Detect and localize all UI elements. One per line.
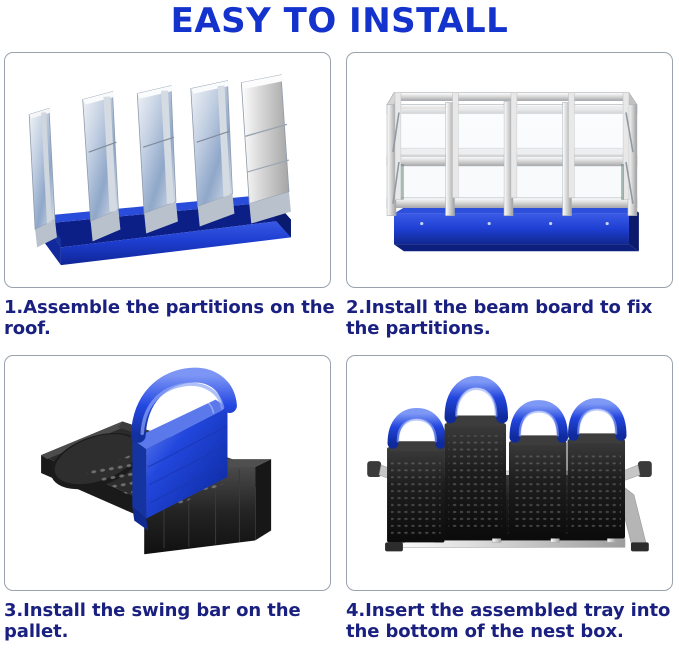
blue-base	[394, 206, 639, 252]
step-3: 3.Install the swing bar on the pallet.	[4, 355, 336, 642]
step-4-illustration	[347, 356, 672, 590]
page-title: EASY TO INSTALL	[0, 1, 679, 41]
step-2-illustration	[347, 53, 672, 287]
step-2: 2.Install the beam board to fix the part…	[346, 52, 678, 339]
tray-1	[387, 414, 445, 543]
swing-bar-pallet-artwork	[5, 356, 330, 590]
step-1-image-frame	[4, 52, 331, 288]
step-2-image-frame	[346, 52, 673, 288]
beam-board-cage-artwork	[347, 53, 672, 287]
tray-3	[509, 406, 567, 539]
step-4-caption: 4.Insert the assembled tray into the bot…	[346, 600, 678, 642]
step-1-caption: 1.Assemble the partitions on the roof.	[4, 297, 336, 339]
trays-in-nestbox-artwork	[347, 356, 672, 590]
easy-to-install-infographic: EASY TO INSTALL	[0, 0, 679, 652]
step-1-illustration	[5, 53, 330, 287]
partitions-on-base-artwork	[5, 53, 330, 287]
step-1: 1.Assemble the partitions on the roof.	[4, 52, 336, 339]
tray-2	[445, 382, 506, 539]
step-3-caption: 3.Install the swing bar on the pallet.	[4, 600, 336, 642]
step-4: 4.Insert the assembled tray into the bot…	[346, 355, 678, 642]
step-3-image-frame	[4, 355, 331, 591]
step-3-illustration	[5, 356, 330, 590]
step-2-caption: 2.Install the beam board to fix the part…	[346, 297, 678, 339]
step-4-image-frame	[346, 355, 673, 591]
tray-4	[568, 404, 626, 539]
